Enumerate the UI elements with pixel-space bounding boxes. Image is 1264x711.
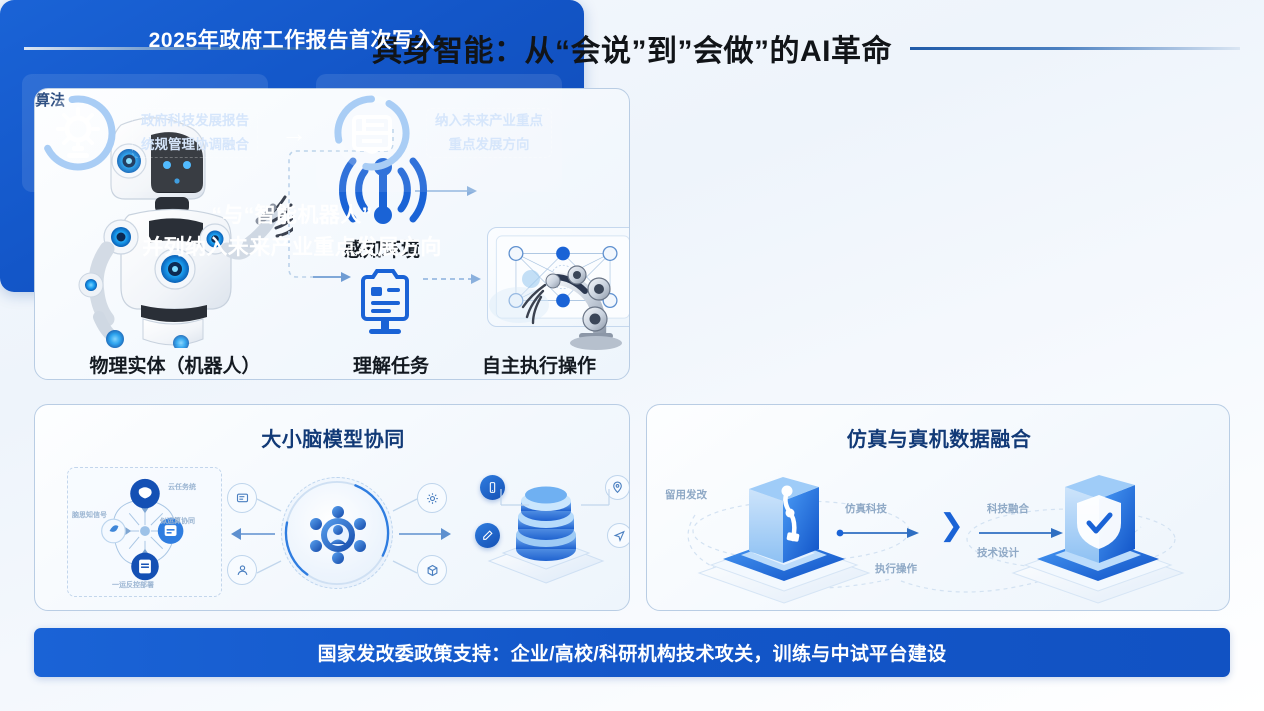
policy-right-line2: 重点发展方向 (433, 133, 545, 157)
infographic-page: 具身智能：从“会说”到”会做”的AI革命 (0, 0, 1264, 711)
sim-arrow-1 (835, 523, 925, 543)
brain-center-ring (281, 477, 393, 589)
flow-label-exec: 自主执行操作 (463, 351, 615, 378)
robotic-arm-image (479, 259, 627, 351)
brain-left-network-box: 脑思知信号 云任务统 似运算协同 一运反控部署 (67, 467, 222, 597)
box-icon (417, 555, 447, 585)
policy-card-right: 纳入未来产业重点 重点发展方向 (316, 74, 562, 192)
banner-text: 国家发改委政策支持：企业/高校/科研机构技术攻关，训练与中试平台建设 (318, 639, 947, 666)
brain-tiny-label-2: 似运算协同 (160, 516, 195, 526)
title-rule-right (910, 47, 1240, 50)
sim-label-mid-left: 仿真科技 (845, 501, 887, 516)
brain-tiny-label-0: 脑思知信号 (72, 510, 107, 520)
policy-footer-line1: “与“智能机器人” (0, 200, 584, 232)
brain-node-links-right (387, 493, 419, 579)
sim-label-mid-right: 科技融合 (987, 501, 1029, 516)
policy-footer: “与“智能机器人” 并列纳入未来产业重点发展方向 (0, 200, 584, 263)
chevron-right-icon: ❯ (939, 511, 964, 541)
gear-icon (417, 483, 447, 513)
policy-right-line1: 纳入未来产业重点 (433, 109, 545, 133)
policy-left-line2: 统规管理协调融合 (139, 133, 251, 157)
document-report-icon (328, 89, 416, 177)
gear-bulb-icon (34, 89, 122, 177)
policy-card-left: 政府科技发展报告 统规管理协调融合 (22, 74, 268, 192)
brain-panel-title: 大小脑模型协同 (35, 423, 630, 452)
policy-left-line1: 政府科技发展报告 (139, 109, 251, 133)
user-icon (227, 555, 257, 585)
policy-heading: 2025年政府工作报告首次写入 (0, 24, 584, 54)
policy-card-right-text: 纳入未来产业重点 重点发展方向 (426, 108, 552, 157)
sim-label-top-left: 留用发改 (665, 487, 707, 502)
flow-label-entity: 物理实体（机器人） (57, 351, 293, 378)
sim-panel-title: 仿真与真机数据融合 (647, 423, 1230, 452)
bottom-policy-banner: 国家发改委政策支持：企业/高校/科研机构技术攻关，训练与中试平台建设 (34, 628, 1230, 677)
policy-footer-line2: 并列纳入未来产业重点发展方向 (0, 232, 584, 264)
message-icon (227, 483, 257, 513)
flow-label-task: 理解任务 (321, 351, 461, 378)
brain-node-links-left (255, 493, 287, 579)
panel-sim-real-fusion: 仿真与真机数据融合 (646, 404, 1230, 611)
sim-label-bottom-right: 技术设计 (977, 545, 1019, 560)
panel-brain-collaboration: 大小脑模型协同 (34, 404, 630, 611)
policy-card-left-text: 政府科技发展报告 统规管理协调融合 (132, 108, 258, 157)
brain-tiny-label-1: 云任务统 (168, 482, 196, 492)
molecule-ai-core-icon (306, 502, 370, 566)
policy-arrow-icon: → (278, 118, 310, 148)
sim-arrow-2 (975, 523, 1071, 543)
sim-label-bottom-left: 执行操作 (875, 561, 917, 576)
panel-policy-2025: 2025年政府工作报告首次写入 (0, 0, 584, 292)
db-node-brackets (497, 487, 613, 533)
brain-tiny-label-3: 一运反控部署 (112, 580, 154, 590)
clipboard-task-icon (355, 267, 415, 337)
